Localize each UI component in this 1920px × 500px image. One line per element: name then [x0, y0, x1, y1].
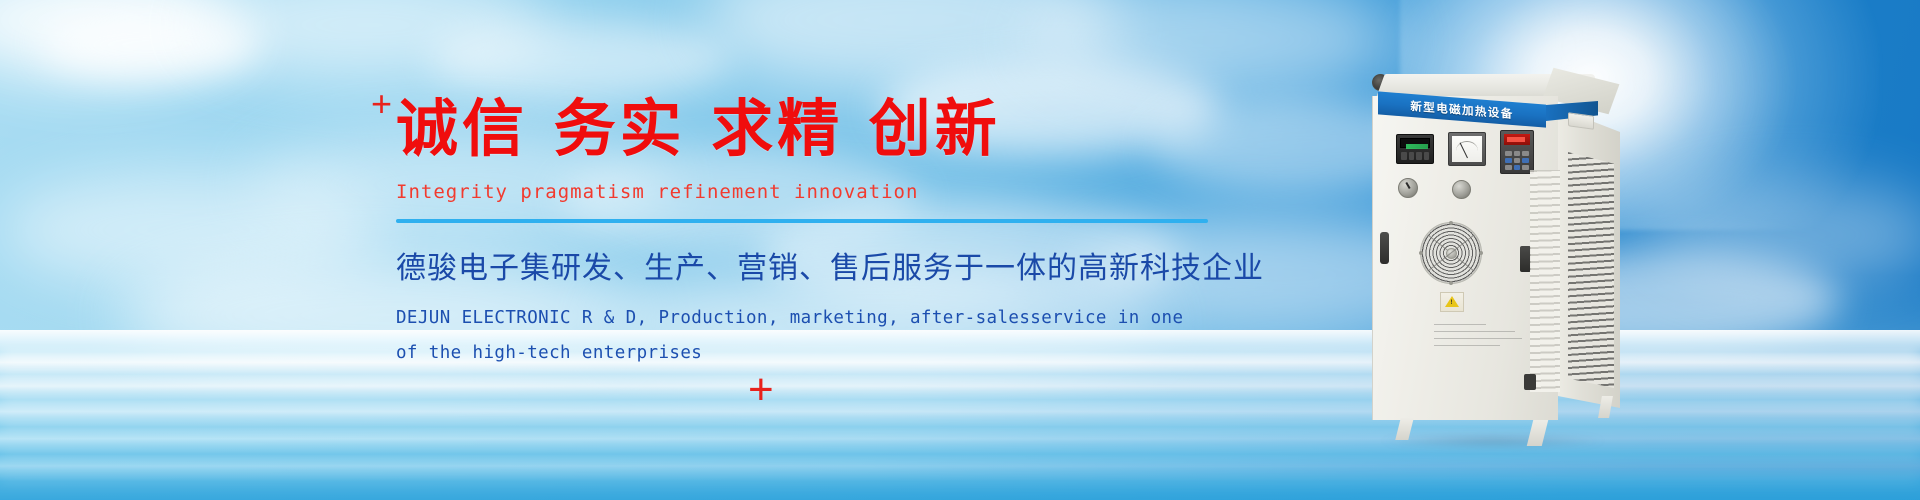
selector-knob[interactable] — [1398, 178, 1418, 198]
analog-meter-face — [1452, 136, 1482, 162]
machine-product-label-text: 新型电磁加热设备 — [1410, 97, 1513, 121]
fan-hub — [1446, 248, 1457, 259]
keypad-display — [1504, 134, 1530, 145]
cloud — [1640, 180, 1920, 290]
plus-decoration-icon: + — [371, 86, 392, 122]
digital-controller-instrument[interactable] — [1396, 134, 1434, 164]
water-wave — [0, 476, 1920, 481]
company-banner: + + 诚信 务实 求精 创新 Integrity pragmatism ref… — [0, 0, 1920, 500]
keypad-controller-instrument[interactable] — [1500, 130, 1534, 174]
warning-label-icon — [1440, 292, 1464, 312]
banner-text-block: 诚信 务实 求精 创新 Integrity pragmatism refinem… — [396, 96, 1256, 371]
cable-port — [1524, 374, 1536, 390]
digital-controller-screen — [1400, 138, 1430, 148]
description-chinese: 德骏电子集研发、生产、营销、售后服务于一体的高新科技企业 — [396, 243, 1256, 287]
analog-meter-instrument — [1448, 132, 1486, 166]
warning-triangle-icon — [1445, 296, 1459, 307]
water-wave — [0, 452, 1920, 457]
instruction-line — [1434, 324, 1486, 325]
digital-controller-readout — [1406, 144, 1428, 149]
instruction-line — [1434, 345, 1500, 346]
description-english-line-2: of the high-tech enterprises — [396, 336, 1256, 371]
description-english-line-1: DEJUN ELECTRONIC R & D, Production, mark… — [396, 301, 1256, 336]
machine-shadow — [1378, 434, 1608, 448]
instruction-label — [1434, 324, 1526, 352]
machine-handle-slot — [1380, 232, 1389, 264]
headline-chinese: 诚信 务实 求精 创新 — [396, 96, 1256, 161]
keypad-keys[interactable] — [1505, 151, 1529, 170]
fan-stud — [1479, 251, 1483, 255]
ventilation-louvers — [1568, 152, 1614, 388]
instruction-line — [1434, 331, 1515, 332]
description-english: DEJUN ELECTRONIC R & D, Production, mark… — [396, 301, 1256, 371]
cloud — [430, 20, 730, 100]
cooling-fan-grille — [1420, 222, 1482, 284]
headline-english: Integrity pragmatism refinement innovati… — [396, 181, 1256, 203]
fan-stud — [1419, 251, 1423, 255]
fan-stud — [1449, 281, 1453, 285]
product-machine-image: 新型电磁加热设备 — [1372, 74, 1634, 446]
fan-stud — [1449, 221, 1453, 225]
machine-front-ribs — [1530, 170, 1560, 392]
digital-controller-buttons[interactable] — [1401, 152, 1429, 160]
adjustment-knob[interactable] — [1452, 180, 1471, 199]
machine-leg — [1598, 396, 1613, 418]
divider-rule — [396, 219, 1208, 223]
instruction-line — [1434, 338, 1522, 339]
plus-decoration-icon: + — [748, 368, 774, 412]
